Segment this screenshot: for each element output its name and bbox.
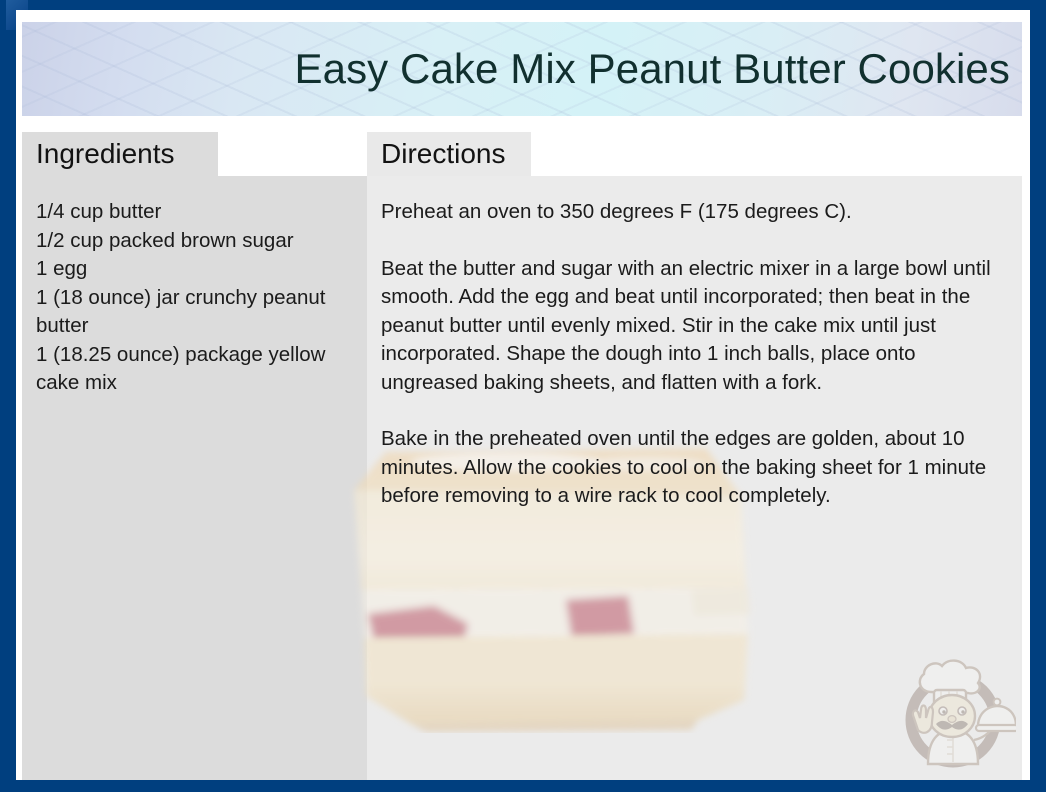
- ingredients-section-header: Ingredients: [22, 132, 218, 176]
- ingredient-item: 1/4 cup butter: [36, 198, 351, 227]
- ingredient-item: 1 (18.25 ounce) package yellow cake mix: [36, 341, 351, 398]
- ingredient-item: 1/2 cup packed brown sugar: [36, 227, 351, 256]
- title-banner: Easy Cake Mix Peanut Butter Cookies: [22, 22, 1022, 116]
- directions-section-header: Directions: [367, 132, 531, 176]
- direction-step: Bake in the preheated oven until the edg…: [381, 425, 1006, 511]
- ingredient-item: 1 egg: [36, 255, 351, 284]
- ingredients-panel: 1/4 cup butter 1/2 cup packed brown suga…: [22, 176, 367, 780]
- direction-step: Preheat an oven to 350 degrees F (175 de…: [381, 198, 1006, 227]
- directions-heading-label: Directions: [381, 140, 505, 168]
- ingredients-list: 1/4 cup butter 1/2 cup packed brown suga…: [36, 198, 351, 398]
- direction-step: Beat the butter and sugar with an electr…: [381, 255, 1006, 398]
- page-title: Easy Cake Mix Peanut Butter Cookies: [295, 48, 1023, 90]
- recipe-card: Easy Cake Mix Peanut Butter Cookies Ingr…: [0, 0, 1046, 792]
- ingredients-heading-label: Ingredients: [36, 140, 175, 168]
- directions-panel: Preheat an oven to 350 degrees F (175 de…: [367, 176, 1022, 780]
- ingredients-content: 1/4 cup butter 1/2 cup packed brown suga…: [22, 176, 367, 398]
- directions-content: Preheat an oven to 350 degrees F (175 de…: [367, 176, 1022, 511]
- ingredient-item: 1 (18 ounce) jar crunchy peanut butter: [36, 284, 351, 341]
- page-surface: Easy Cake Mix Peanut Butter Cookies Ingr…: [16, 10, 1030, 780]
